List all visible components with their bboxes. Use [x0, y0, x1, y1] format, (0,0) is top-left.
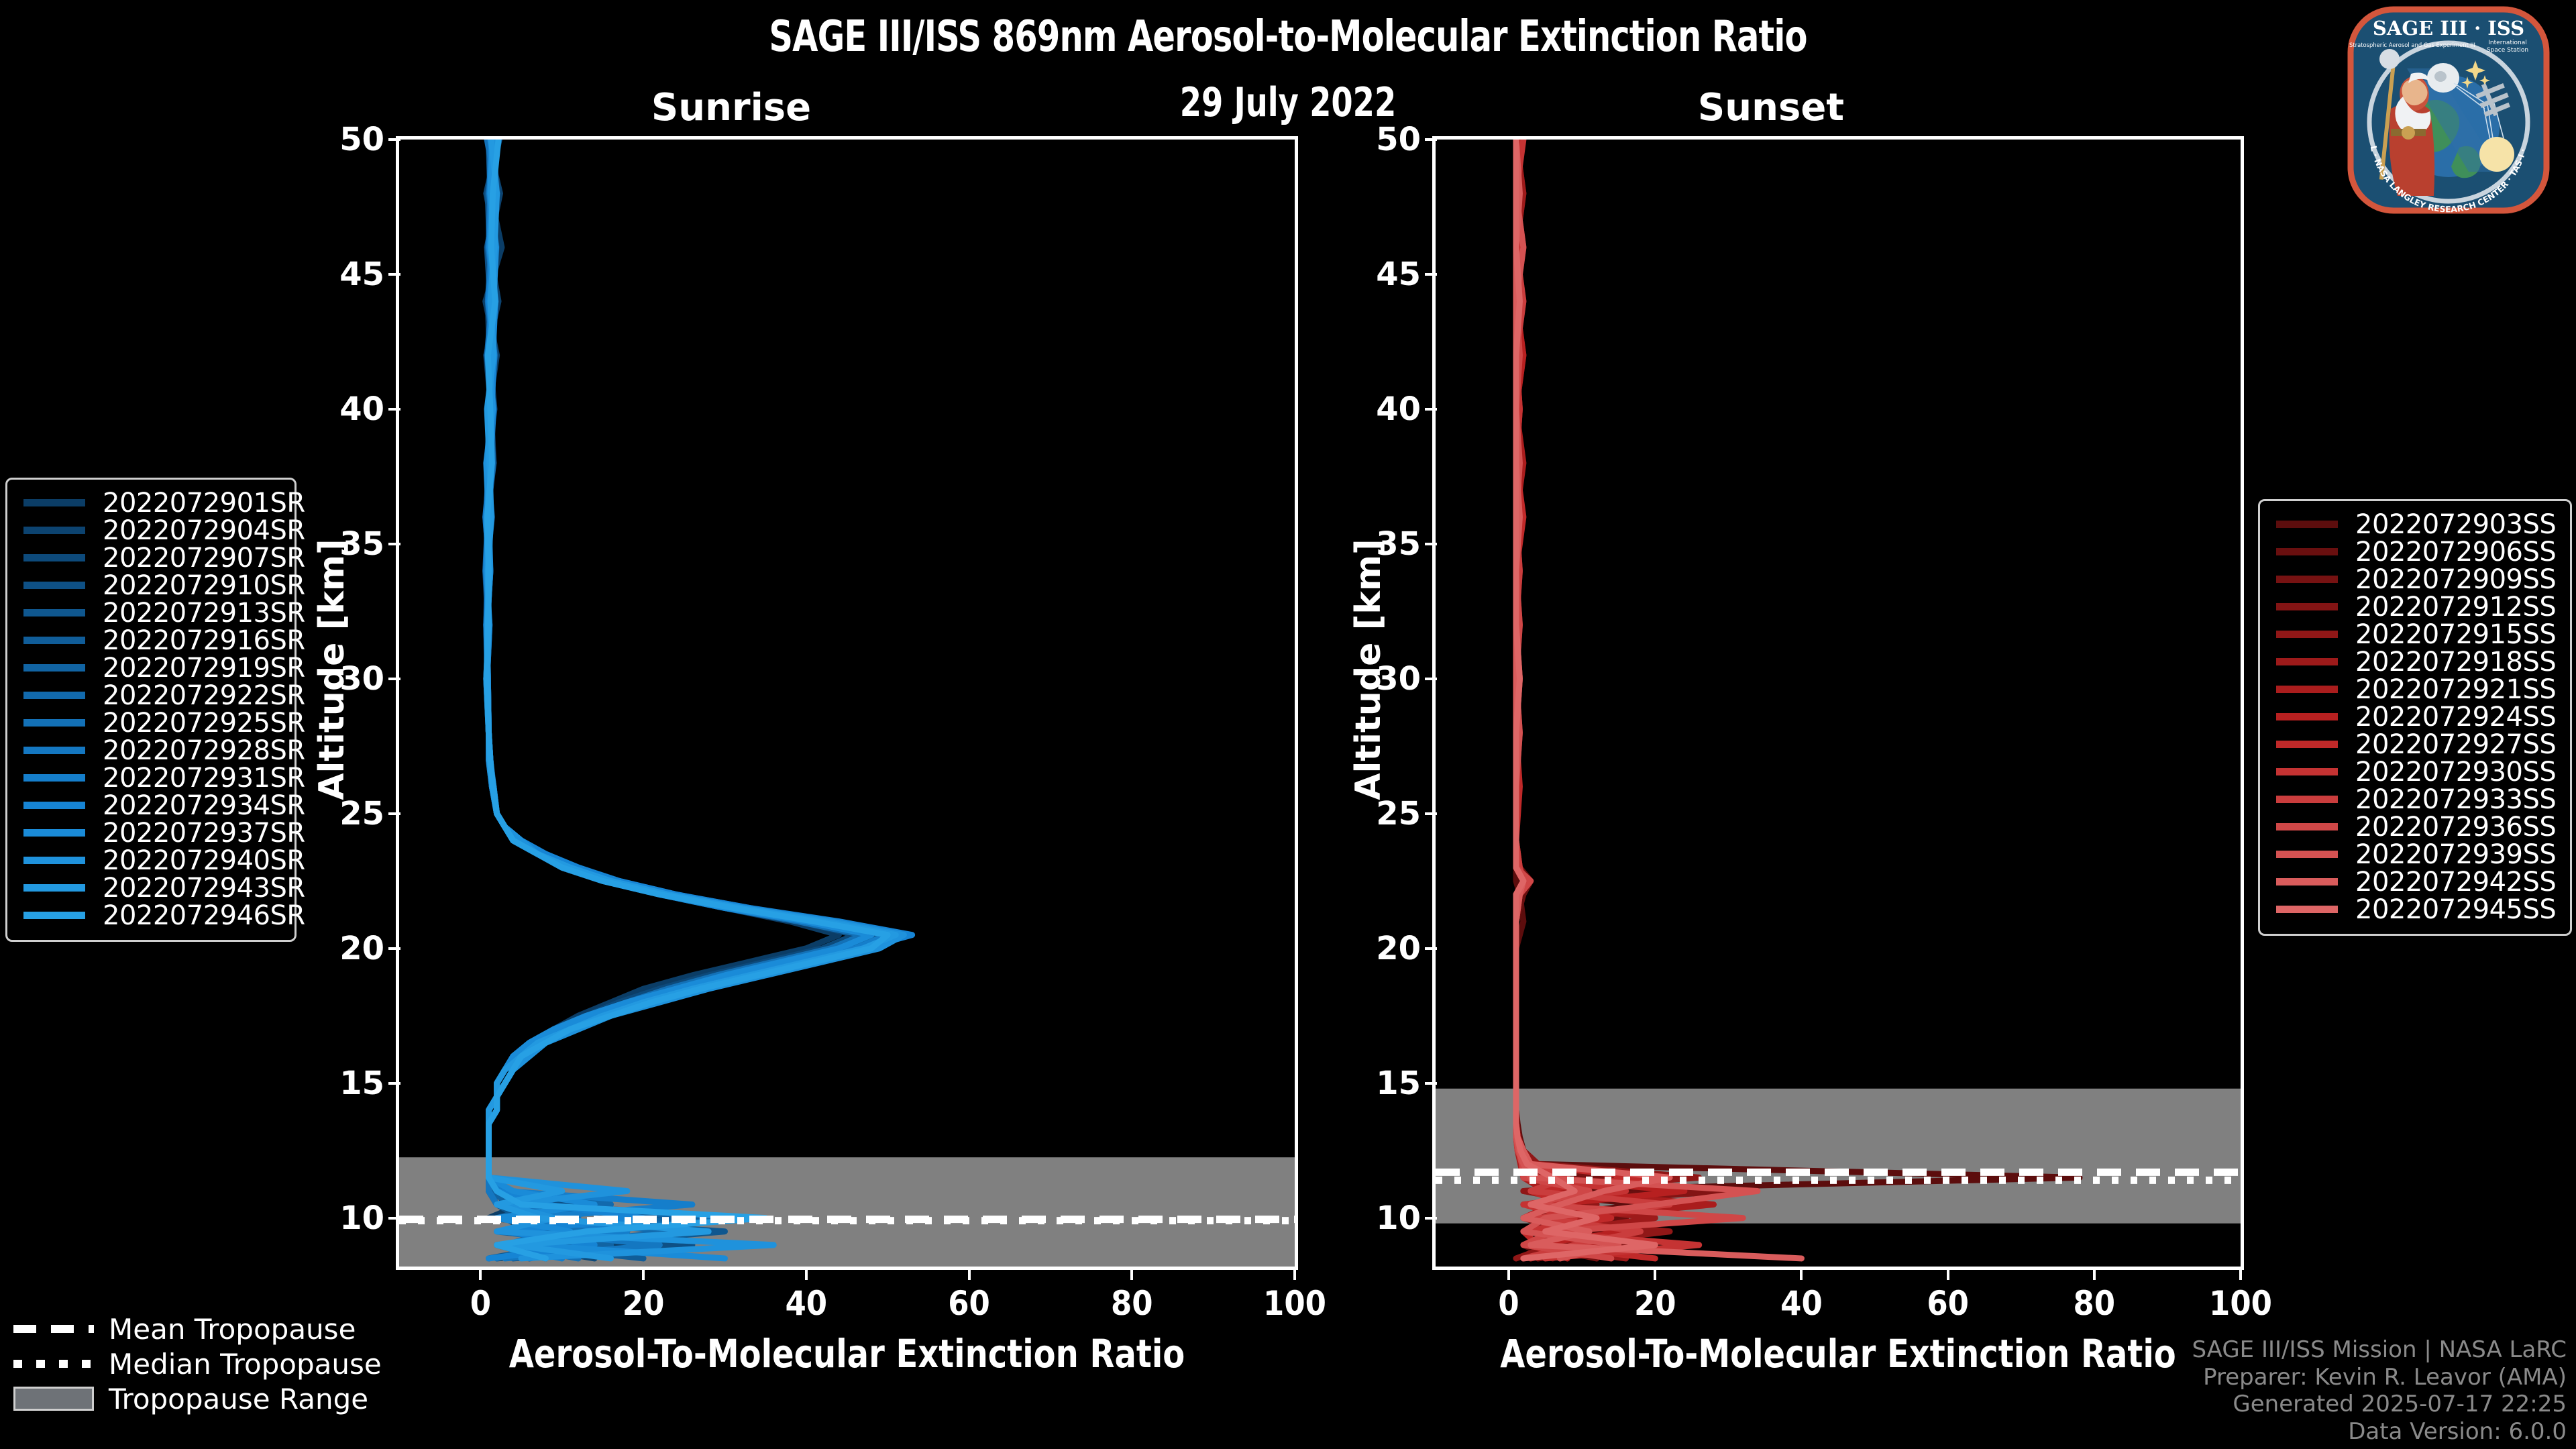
legend-label: 2022072937SR — [103, 818, 305, 849]
sunset-plot-area — [1436, 140, 2241, 1267]
sunset-legend-row[interactable]: 2022072927SS — [2272, 731, 2558, 758]
legend-color-swatch — [2276, 823, 2338, 830]
legend-color-swatch — [23, 857, 85, 864]
legend-label: 2022072906SS — [2355, 537, 2556, 568]
sunrise-legend-row[interactable]: 2022072934SR — [19, 792, 282, 819]
profile-line — [486, 140, 896, 1258]
legend-color-swatch — [23, 527, 85, 534]
sunset-legend-row[interactable]: 2022072945SS — [2272, 896, 2558, 923]
logo-subtitle-left: Stratospheric Aerosol and Gas Experiment… — [2349, 42, 2475, 48]
legend-label: 2022072928SR — [103, 735, 305, 766]
sunset-legend-row[interactable]: 2022072918SS — [2272, 648, 2558, 676]
sunset-y-axis-label: Altitude [km] — [1348, 508, 1389, 830]
profile-line — [486, 140, 879, 1258]
legend-color-swatch — [2276, 686, 2338, 693]
legend-label: 2022072904SR — [103, 515, 305, 546]
sunrise-legend-row[interactable]: 2022072931SR — [19, 764, 282, 792]
legend-label: 2022072915SS — [2355, 619, 2556, 650]
legend-color-swatch — [2276, 878, 2338, 885]
legend-label: 2022072934SR — [103, 790, 305, 821]
x-tick-label: 80 — [1111, 1284, 1153, 1323]
sunrise-legend-row[interactable]: 2022072940SR — [19, 847, 282, 874]
y-tick-label: 20 — [1376, 930, 1421, 967]
sunset-legend-row[interactable]: 2022072924SS — [2272, 703, 2558, 731]
footer-line: Preparer: Kevin R. Leavor (AMA) — [2192, 1364, 2567, 1391]
legend-label: 2022072909SS — [2355, 564, 2556, 595]
x-tick-label: 0 — [470, 1284, 491, 1323]
legend-label: 2022072930SS — [2355, 757, 2556, 788]
logo-subtitle-right-2: Space Station — [2487, 47, 2528, 54]
legend-color-swatch — [2276, 631, 2338, 638]
sunrise-legend-row[interactable]: 2022072937SR — [19, 819, 282, 847]
legend-label: 2022072918SS — [2355, 647, 2556, 678]
legend-label: 2022072936SS — [2355, 812, 2556, 843]
sunrise-panel-title: Sunrise — [577, 86, 885, 129]
y-tick-label: 20 — [339, 930, 384, 967]
legend-color-swatch — [23, 747, 85, 754]
sage-mission-patch-logo: SAGE III · ISS Stratospheric Aerosol and… — [2341, 4, 2556, 219]
sunset-legend-row[interactable]: 2022072930SS — [2272, 758, 2558, 786]
x-tick-mark — [805, 1267, 808, 1280]
legend-label: 2022072907SR — [103, 543, 305, 574]
legend-label: 2022072925SR — [103, 708, 305, 739]
x-tick-mark — [968, 1267, 971, 1280]
y-tick-label: 50 — [339, 121, 384, 158]
footer-line: SAGE III/ISS Mission | NASA LaRC — [2192, 1336, 2567, 1363]
logo-title-text: SAGE III · ISS — [2373, 17, 2524, 40]
legend-color-swatch — [23, 912, 85, 919]
sunset-legend[interactable]: 2022072903SS2022072906SS2022072909SS2022… — [2258, 499, 2572, 936]
profile-line — [486, 140, 912, 1258]
sunrise-legend-row[interactable]: 2022072901SR — [19, 489, 282, 517]
y-tick-label: 45 — [339, 256, 384, 293]
sunrise-legend-row[interactable]: 2022072904SR — [19, 517, 282, 544]
x-tick-label: 20 — [1634, 1284, 1676, 1323]
sunrise-y-axis-label: Altitude [km] — [312, 508, 352, 830]
profile-line — [486, 140, 871, 1258]
sunset-x-axis-label: Aerosol-To-Molecular Extinction Ratio — [1468, 1331, 2208, 1377]
legend-color-swatch — [23, 774, 85, 782]
legend-color-swatch — [23, 802, 85, 809]
sunrise-legend-row[interactable]: 2022072943SR — [19, 874, 282, 902]
legend-label: 2022072922SR — [103, 680, 305, 711]
x-tick-mark — [1293, 1267, 1296, 1280]
sunset-legend-row[interactable]: 2022072906SS — [2272, 538, 2558, 566]
logo-subtitle-right-1: International — [2488, 40, 2526, 46]
tropopause-key-label: Mean Tropopause — [109, 1313, 356, 1346]
profile-line — [486, 140, 896, 1258]
x-tick-label: 100 — [1263, 1284, 1326, 1323]
sunset-legend-row[interactable]: 2022072909SS — [2272, 566, 2558, 593]
x-tick-label: 60 — [948, 1284, 990, 1323]
x-tick-label: 0 — [1498, 1284, 1519, 1323]
y-tick-label: 40 — [1376, 390, 1421, 428]
legend-color-swatch — [23, 554, 85, 561]
sunrise-legend-row[interactable]: 2022072928SR — [19, 737, 282, 764]
legend-label: 2022072927SS — [2355, 729, 2556, 760]
legend-color-swatch — [23, 609, 85, 616]
legend-label: 2022072942SS — [2355, 867, 2556, 898]
sunrise-legend[interactable]: 2022072901SR2022072904SR2022072907SR2022… — [5, 478, 297, 942]
x-tick-mark — [1654, 1267, 1656, 1280]
profile-line — [486, 140, 863, 1258]
sunset-legend-row[interactable]: 2022072942SS — [2272, 868, 2558, 896]
sunset-legend-row[interactable]: 2022072939SS — [2272, 841, 2558, 868]
tropopause-key-label: Tropopause Range — [109, 1383, 368, 1415]
tropopause-key-marker — [13, 1391, 94, 1407]
legend-color-swatch — [23, 884, 85, 892]
x-tick-label: 100 — [2209, 1284, 2272, 1323]
sunset-legend-row[interactable]: 2022072921SS — [2272, 676, 2558, 703]
sunrise-legend-row[interactable]: 2022072922SR — [19, 682, 282, 709]
y-tick-label: 40 — [339, 390, 384, 428]
sunrise-legend-row[interactable]: 2022072919SR — [19, 654, 282, 682]
sunset-plot[interactable]: 101520253035404550020406080100 Altitude … — [1432, 136, 2244, 1270]
tropopause-key-label: Median Tropopause — [109, 1348, 382, 1381]
sunset-legend-row[interactable]: 2022072915SS — [2272, 621, 2558, 648]
legend-label: 2022072939SS — [2355, 839, 2556, 870]
legend-color-swatch — [2276, 741, 2338, 748]
legend-color-swatch — [23, 829, 85, 837]
legend-color-swatch — [2276, 603, 2338, 610]
sunrise-plot-area — [399, 140, 1295, 1267]
legend-label: 2022072903SS — [2355, 509, 2556, 540]
tropopause-key-row: Tropopause Range — [7, 1381, 409, 1416]
footer-line: Data Version: 6.0.0 — [2192, 1418, 2567, 1445]
x-tick-label: 20 — [623, 1284, 665, 1323]
legend-label: 2022072945SS — [2355, 894, 2556, 925]
profile-line — [486, 140, 839, 1258]
footer-line: Generated 2025-07-17 22:25 — [2192, 1391, 2567, 1417]
y-tick-label: 45 — [1376, 256, 1421, 293]
sunrise-profile-canvas — [399, 140, 1295, 1267]
legend-label: 2022072919SR — [103, 653, 305, 684]
sunrise-legend-row[interactable]: 2022072946SR — [19, 902, 282, 929]
sunset-profile-canvas — [1436, 140, 2241, 1267]
legend-label: 2022072931SR — [103, 763, 305, 794]
tropopause-key-marker — [13, 1321, 94, 1337]
profile-line — [486, 140, 855, 1258]
x-tick-mark — [2093, 1267, 2096, 1280]
sunrise-x-axis-label: Aerosol-To-Molecular Extinction Ratio — [435, 1331, 1258, 1377]
profile-line — [486, 140, 888, 1258]
sunset-legend-row[interactable]: 2022072903SS — [2272, 511, 2558, 538]
tropopause-key-row: Median Tropopause — [7, 1346, 409, 1381]
legend-label: 2022072933SS — [2355, 784, 2556, 815]
legend-color-swatch — [2276, 713, 2338, 720]
legend-label: 2022072913SR — [103, 598, 305, 629]
legend-color-swatch — [23, 719, 85, 727]
x-tick-mark — [1947, 1267, 1949, 1280]
y-tick-label: 15 — [1376, 1065, 1421, 1102]
legend-color-swatch — [23, 637, 85, 644]
tropopause-key-dashed-icon — [13, 1325, 94, 1333]
legend-color-swatch — [23, 499, 85, 506]
legend-color-swatch — [2276, 658, 2338, 665]
x-tick-mark — [642, 1267, 645, 1280]
legend-label: 2022072901SR — [103, 488, 305, 519]
y-tick-label: 50 — [1376, 121, 1421, 158]
profile-line — [486, 140, 904, 1258]
y-tick-label: 10 — [339, 1199, 384, 1237]
sunrise-legend-row[interactable]: 2022072916SR — [19, 627, 282, 654]
legend-color-swatch — [2276, 768, 2338, 775]
legend-label: 2022072940SR — [103, 845, 305, 876]
legend-color-swatch — [2276, 521, 2338, 528]
footer-attribution: SAGE III/ISS Mission | NASA LaRCPreparer… — [2192, 1336, 2567, 1445]
sunset-legend-row[interactable]: 2022072912SS — [2272, 593, 2558, 621]
x-tick-label: 60 — [1927, 1284, 1969, 1323]
date-subtitle: 29 July 2022 — [180, 79, 2396, 126]
profile-line — [486, 140, 863, 1258]
tropopause-key-row: Mean Tropopause — [7, 1311, 409, 1346]
page-title: SAGE III/ISS 869nm Aerosol-to-Molecular … — [180, 12, 2396, 62]
profile-line — [486, 140, 896, 1258]
x-tick-label: 80 — [2074, 1284, 2116, 1323]
legend-label: 2022072921SS — [2355, 674, 2556, 705]
sunrise-legend-row[interactable]: 2022072910SR — [19, 572, 282, 599]
legend-label: 2022072916SR — [103, 625, 305, 656]
profile-line — [486, 140, 904, 1258]
legend-color-swatch — [2276, 851, 2338, 858]
y-tick-label: 10 — [1376, 1199, 1421, 1237]
legend-label: 2022072946SR — [103, 900, 305, 931]
x-tick-mark — [479, 1267, 482, 1280]
x-tick-mark — [1507, 1267, 1510, 1280]
profile-line — [487, 140, 888, 1258]
legend-label: 2022072910SR — [103, 570, 305, 601]
tropopause-key-marker — [13, 1356, 94, 1372]
sunset-panel-title: Sunset — [1617, 86, 1925, 129]
legend-color-swatch — [23, 664, 85, 672]
legend-color-swatch — [2276, 906, 2338, 913]
sunrise-legend-row[interactable]: 2022072925SR — [19, 709, 282, 737]
x-tick-mark — [1800, 1267, 1803, 1280]
legend-color-swatch — [2276, 796, 2338, 803]
legend-color-swatch — [2276, 576, 2338, 583]
tropopause-legend: Mean TropopauseMedian TropopauseTropopau… — [7, 1311, 409, 1416]
sunrise-legend-row[interactable]: 2022072907SR — [19, 544, 282, 572]
x-tick-label: 40 — [786, 1284, 828, 1323]
legend-label: 2022072943SR — [103, 873, 305, 904]
sunrise-plot[interactable]: 101520253035404550020406080100 Altitude … — [396, 136, 1298, 1270]
legend-label: 2022072912SS — [2355, 592, 2556, 623]
profile-line — [486, 140, 871, 1258]
sunrise-legend-row[interactable]: 2022072913SR — [19, 599, 282, 627]
profile-line — [486, 140, 888, 1258]
legend-color-swatch — [2276, 548, 2338, 555]
x-tick-label: 40 — [1780, 1284, 1823, 1323]
tropopause-key-band-icon — [13, 1387, 94, 1411]
legend-color-swatch — [23, 582, 85, 589]
sunset-legend-row[interactable]: 2022072933SS — [2272, 786, 2558, 813]
y-tick-label: 15 — [339, 1065, 384, 1102]
legend-color-swatch — [23, 692, 85, 699]
x-tick-mark — [2239, 1267, 2242, 1280]
sunset-legend-row[interactable]: 2022072936SS — [2272, 813, 2558, 841]
tropopause-key-dotted-icon — [13, 1360, 94, 1368]
x-tick-mark — [1130, 1267, 1133, 1280]
legend-label: 2022072924SS — [2355, 702, 2556, 733]
